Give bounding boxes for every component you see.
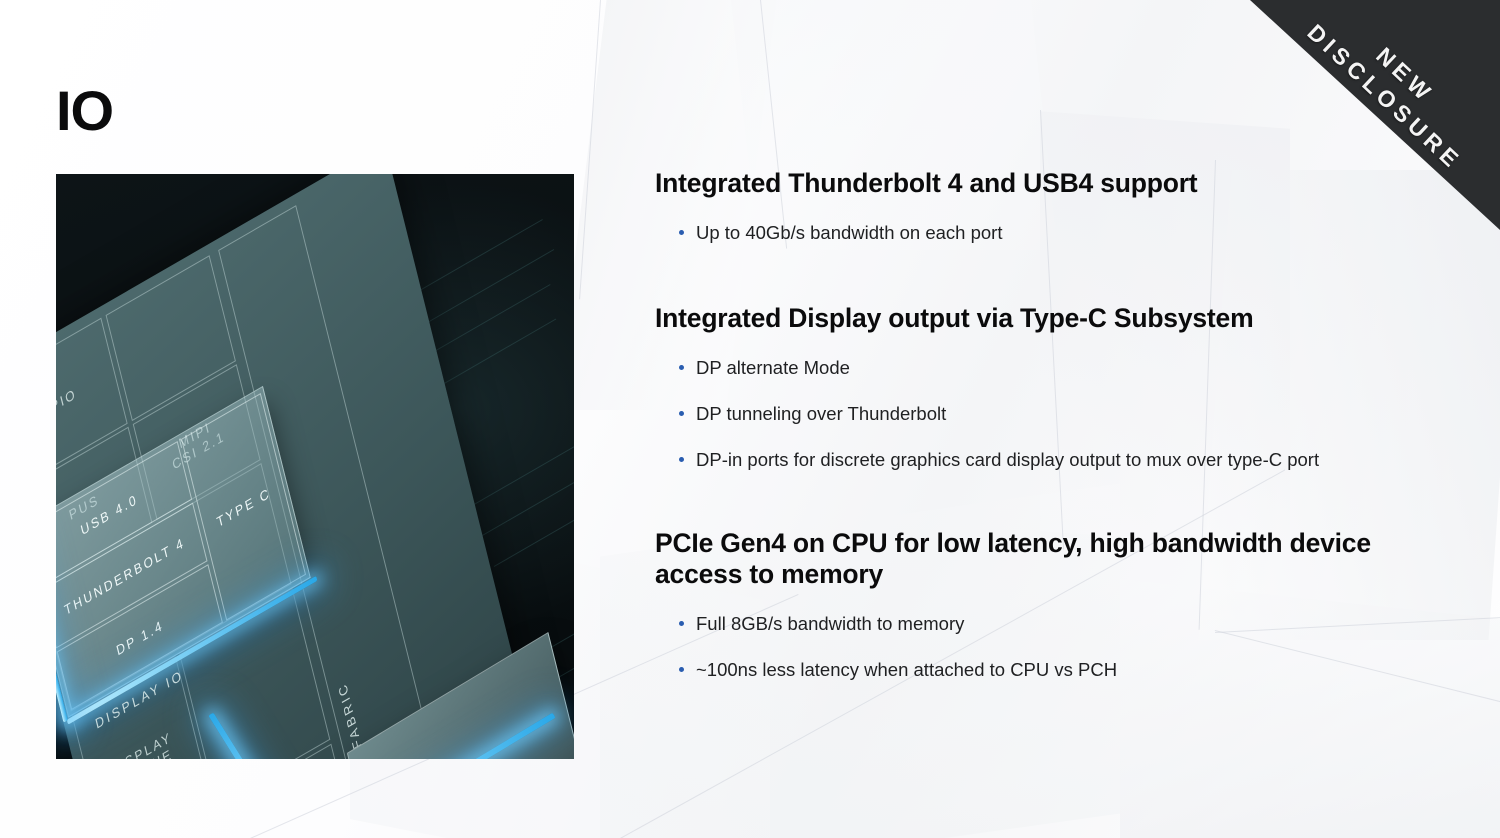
section-bullets: Full 8GB/s bandwidth to memory ~100ns le… <box>655 612 1455 682</box>
bullet-dot-icon <box>679 621 684 626</box>
bullet-text: Up to 40Gb/s bandwidth on each port <box>696 221 1002 245</box>
bullet-dot-icon <box>679 365 684 370</box>
bullet-dot-icon <box>679 667 684 672</box>
section-pcie-gen4: PCIe Gen4 on CPU for low latency, high b… <box>655 528 1455 682</box>
bullet-text: DP alternate Mode <box>696 356 850 380</box>
bullet-item: DP tunneling over Thunderbolt <box>655 402 1455 426</box>
bullet-item: ~100ns less latency when attached to CPU… <box>655 658 1455 682</box>
bullet-dot-icon <box>679 411 684 416</box>
bullet-text: DP tunneling over Thunderbolt <box>696 402 946 426</box>
bullet-item: Up to 40Gb/s bandwidth on each port <box>655 221 1455 245</box>
content-column: Integrated Thunderbolt 4 and USB4 suppor… <box>655 168 1455 692</box>
bullet-text: Full 8GB/s bandwidth to memory <box>696 612 964 636</box>
bullet-item: DP alternate Mode <box>655 356 1455 380</box>
bullet-dot-icon <box>679 230 684 235</box>
bullet-item: DP-in ports for discrete graphics card d… <box>655 448 1455 472</box>
section-heading: Integrated Display output via Type-C Sub… <box>655 303 1455 334</box>
section-thunderbolt: Integrated Thunderbolt 4 and USB4 suppor… <box>655 168 1455 245</box>
section-heading: PCIe Gen4 on CPU for low latency, high b… <box>655 528 1445 590</box>
section-display-output: Integrated Display output via Type-C Sub… <box>655 303 1455 472</box>
section-bullets: Up to 40Gb/s bandwidth on each port <box>655 221 1455 245</box>
section-bullets: DP alternate Mode DP tunneling over Thun… <box>655 356 1455 472</box>
io-die-figure: GPIO PUS MIPI CSI 2.1 DISPLAY ENGINE GNA… <box>56 174 574 759</box>
section-heading: Integrated Thunderbolt 4 and USB4 suppor… <box>655 168 1455 199</box>
page-title: IO <box>56 78 113 143</box>
bullet-item: Full 8GB/s bandwidth to memory <box>655 612 1455 636</box>
background-edge-1 <box>579 0 601 299</box>
bullet-text: ~100ns less latency when attached to CPU… <box>696 658 1117 682</box>
slide-footer: intel TECHNOLOGY PILLARS Under embargo u… <box>0 766 1500 838</box>
bullet-text: DP-in ports for discrete graphics card d… <box>696 448 1319 472</box>
bullet-dot-icon <box>679 457 684 462</box>
slide-root: NEW DISCLOSURE IO GPIO PUS MIPI CSI 2.1 … <box>0 0 1500 838</box>
